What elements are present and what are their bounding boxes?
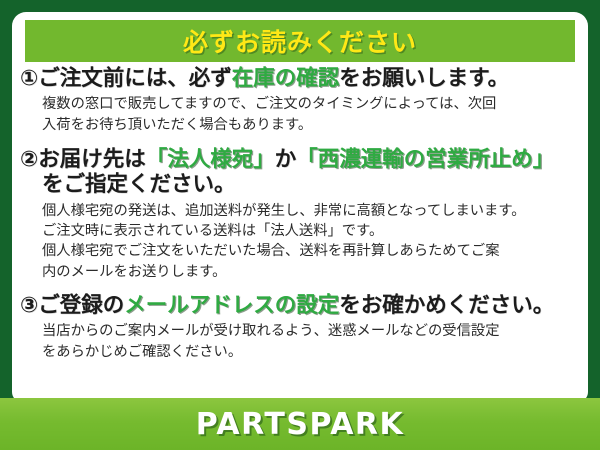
page-title: 必ずお読みください	[183, 23, 417, 59]
notice-item-2-heading-highlight-2: 「西濃運輸の営業所止め」	[296, 147, 554, 172]
header-banner: 必ずお読みください	[25, 20, 575, 62]
notice-item-2-body-line-1: 個人様宅宛の発送は、追加送料が発生し、非常に高額となってしまいます。	[42, 201, 578, 221]
notice-item-2: ②お届け先は「法人様宛」か「西濃運輸の営業所止め」 をご指定ください。 個人様宅…	[12, 147, 588, 282]
notice-item-3-heading: ③ご登録のメールアドレスの設定をお確かめください。	[20, 293, 578, 318]
notice-item-1-heading-pre: ご注文前には、必ず	[38, 66, 232, 91]
notice-item-2-body: 個人様宅宛の発送は、追加送料が発生し、非常に高額となってしまいます。 ご注文時に…	[20, 201, 578, 282]
notice-item-3-body-line-1: 当店からのご案内メールが受け取れるよう、迷惑メールなどの受信設定	[42, 321, 578, 341]
notice-panel: 必ずお読みください ①ご注文前には、必ず在庫の確認をお願いします。 複数の窓口で…	[12, 12, 588, 402]
notice-item-2-body-line-3: 個人様宅宛でご注文をいただいた場合、送料を再計算しあらためてご案	[42, 241, 578, 261]
notice-item-3-heading-post: をお確かめください。	[339, 293, 554, 318]
notice-item-3-body-line-2: をあらかじめご確認ください。	[42, 342, 578, 362]
notice-item-1: ①ご注文前には、必ず在庫の確認をお願いします。 複数の窓口で販売してますので、ご…	[12, 66, 588, 135]
notice-list: ①ご注文前には、必ず在庫の確認をお願いします。 複数の窓口で販売してますので、ご…	[12, 66, 588, 362]
footer-band: PARTSPARK	[0, 398, 600, 450]
notice-item-2-heading: ②お届け先は「法人様宛」か「西濃運輸の営業所止め」	[20, 147, 578, 172]
notice-item-2-body-line-2: ご注文時に表示されている送料は「法人送料」です。	[42, 221, 578, 241]
notice-item-1-heading: ①ご注文前には、必ず在庫の確認をお願いします。	[20, 66, 578, 91]
notice-item-1-body-line-2: 入荷をお待ち頂いただく場合もあります。	[42, 115, 578, 135]
notice-item-1-body-line-1: 複数の窓口で販売してますので、ご注文のタイミングによっては、次回	[42, 94, 578, 114]
notice-item-3-marker: ③	[20, 293, 38, 318]
notice-item-2-heading-highlight: 「法人様宛」	[146, 147, 275, 172]
notice-item-3-body: 当店からのご案内メールが受け取れるよう、迷惑メールなどの受信設定 をあらかじめご…	[20, 321, 578, 362]
notice-item-1-heading-post: をお願いします。	[339, 66, 509, 91]
notice-item-3-heading-highlight: メールアドレスの設定	[124, 293, 339, 318]
notice-item-2-body-line-4: 内のメールをお送りします。	[42, 262, 578, 282]
notice-item-2-heading-line-2: をご指定ください。	[20, 172, 578, 197]
notice-item-1-heading-highlight: 在庫の確認	[232, 66, 340, 91]
notice-card: 必ずお読みください ①ご注文前には、必ず在庫の確認をお願いします。 複数の窓口で…	[0, 0, 600, 450]
notice-item-1-body: 複数の窓口で販売してますので、ご注文のタイミングによっては、次回 入荷をお待ち頂…	[20, 94, 578, 135]
notice-item-2-marker: ②	[20, 147, 38, 172]
notice-item-1-marker: ①	[20, 66, 38, 91]
notice-item-2-heading-pre: お届け先は	[38, 147, 146, 172]
notice-item-3-heading-pre: ご登録の	[38, 293, 124, 318]
notice-item-3: ③ご登録のメールアドレスの設定をお確かめください。 当店からのご案内メールが受け…	[12, 293, 588, 362]
notice-item-2-heading-mid: か	[275, 147, 297, 172]
brand-logo-text: PARTSPARK	[196, 407, 405, 442]
